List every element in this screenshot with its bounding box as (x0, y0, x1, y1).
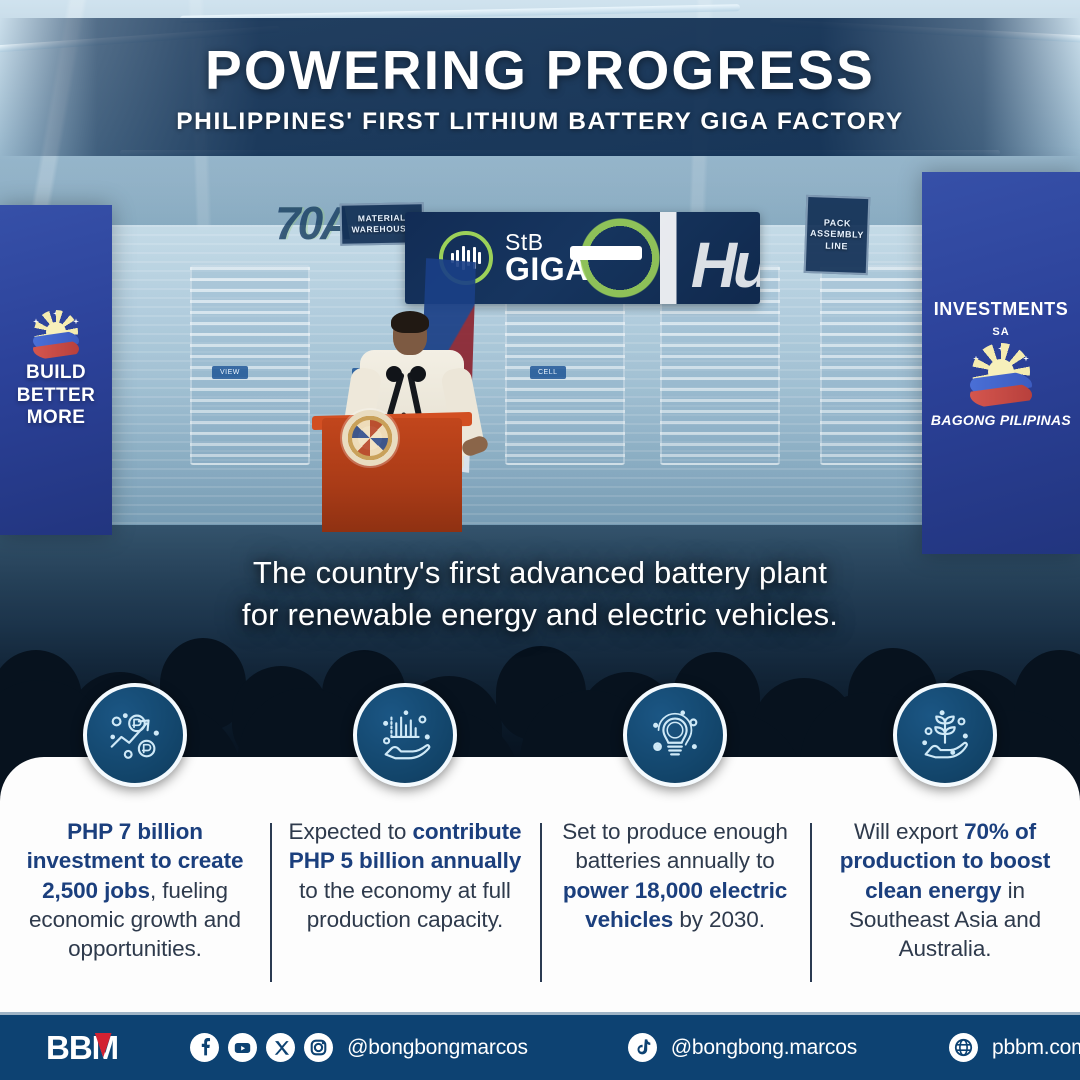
giga-partial-text: Hu (691, 228, 760, 302)
speaker-hair (391, 311, 429, 333)
stat-card-text: Will export 70% of production to boost c… (822, 817, 1068, 963)
build-better-more-banner: BUILD BETTER MORE (0, 205, 112, 535)
light-bulb-icon (644, 704, 706, 766)
giga-plus-bar (570, 246, 642, 260)
stat-card-text: PHP 7 billion investment to create 2,500… (12, 817, 258, 963)
investments-sa-bagong-pilipinas-banner: INVESTMENTS SA BAGONG PILIPINAS (922, 172, 1080, 554)
bbm-logo-accent: M (92, 1029, 119, 1067)
social-group-main: @bongbongmarcos (190, 1033, 528, 1062)
globe-icon[interactable] (949, 1033, 978, 1062)
social-handle[interactable]: @bongbongmarcos (347, 1036, 528, 1060)
stat-badge (353, 683, 457, 787)
hero-caption-line-1: The country's first advanced battery pla… (90, 552, 990, 594)
hand-plant-sprout-icon (914, 704, 976, 766)
social-group-tiktok: @bongbong.marcos (628, 1033, 857, 1062)
microphone-head (386, 366, 402, 382)
banner-line-2: BETTER (17, 385, 95, 407)
page-title: POWERING PROGRESS (205, 38, 875, 102)
right-banner-subtitle: BAGONG PILIPINAS (931, 412, 1071, 428)
banner-line-1: BUILD (17, 362, 95, 384)
page-subtitle: PHILIPPINES' FIRST LITHIUM BATTERY GIGA … (176, 108, 904, 136)
instagram-icon[interactable] (304, 1033, 333, 1062)
facebook-icon[interactable] (190, 1033, 219, 1062)
bagong-pilipinas-sun-logo (29, 310, 83, 356)
right-banner-title: INVESTMENTS (934, 299, 1069, 320)
stat-card-text: Set to produce enough batteries annually… (552, 817, 798, 934)
stat-badge (893, 683, 997, 787)
pack-assembly-line-sign: PACK ASSEMBLY LINE (804, 195, 871, 275)
presidential-seal (342, 410, 398, 466)
tiktok-icon[interactable] (628, 1033, 657, 1062)
stat-badge (83, 683, 187, 787)
social-group-website: pbbm.com.ph (949, 1033, 1080, 1062)
microphone-head (410, 366, 426, 382)
bbm-logo: BBM (46, 1029, 118, 1067)
hero-caption-line-2: for renewable energy and electric vehicl… (90, 594, 990, 636)
bbm-logo-prefix: BB (46, 1029, 92, 1067)
stat-card-text: Expected to contribute PHP 5 billion ann… (282, 817, 528, 934)
banner-line-3: MORE (17, 407, 95, 429)
stat-badge (623, 683, 727, 787)
footer-bar: BBM @bongbongmarcos @bongbong.marcos (0, 1012, 1080, 1080)
stats-card-list: PHP 7 billion investment to create 2,500… (0, 817, 1080, 1004)
stat-card: Expected to contribute PHP 5 billion ann… (270, 817, 540, 1004)
machine-label: CELL (530, 366, 566, 379)
warehouse-shutter (190, 265, 310, 465)
stat-card: Will export 70% of production to boost c… (810, 817, 1080, 1004)
infographic-poster: VIEW MODULE CELL 70A MATERIAL WAREHOUSE … (0, 0, 1080, 1080)
machine-label: VIEW (212, 366, 248, 379)
hand-bar-chart-icon (374, 704, 436, 766)
stat-badge-row (0, 683, 1080, 803)
website-url[interactable]: pbbm.com.ph (992, 1036, 1080, 1060)
hero-caption: The country's first advanced battery pla… (0, 552, 1080, 635)
youtube-icon[interactable] (228, 1033, 257, 1062)
header-band: POWERING PROGRESS PHILIPPINES' FIRST LIT… (0, 18, 1080, 156)
social-handle[interactable]: @bongbong.marcos (671, 1036, 857, 1060)
growth-arrow-peso-icon (104, 704, 166, 766)
bagong-pilipinas-sun-logo (965, 344, 1037, 406)
stat-card: PHP 7 billion investment to create 2,500… (0, 817, 270, 1004)
stat-card: Set to produce enough batteries annually… (540, 817, 810, 1004)
x-twitter-icon[interactable] (266, 1033, 295, 1062)
right-banner-connector: SA (992, 326, 1009, 338)
